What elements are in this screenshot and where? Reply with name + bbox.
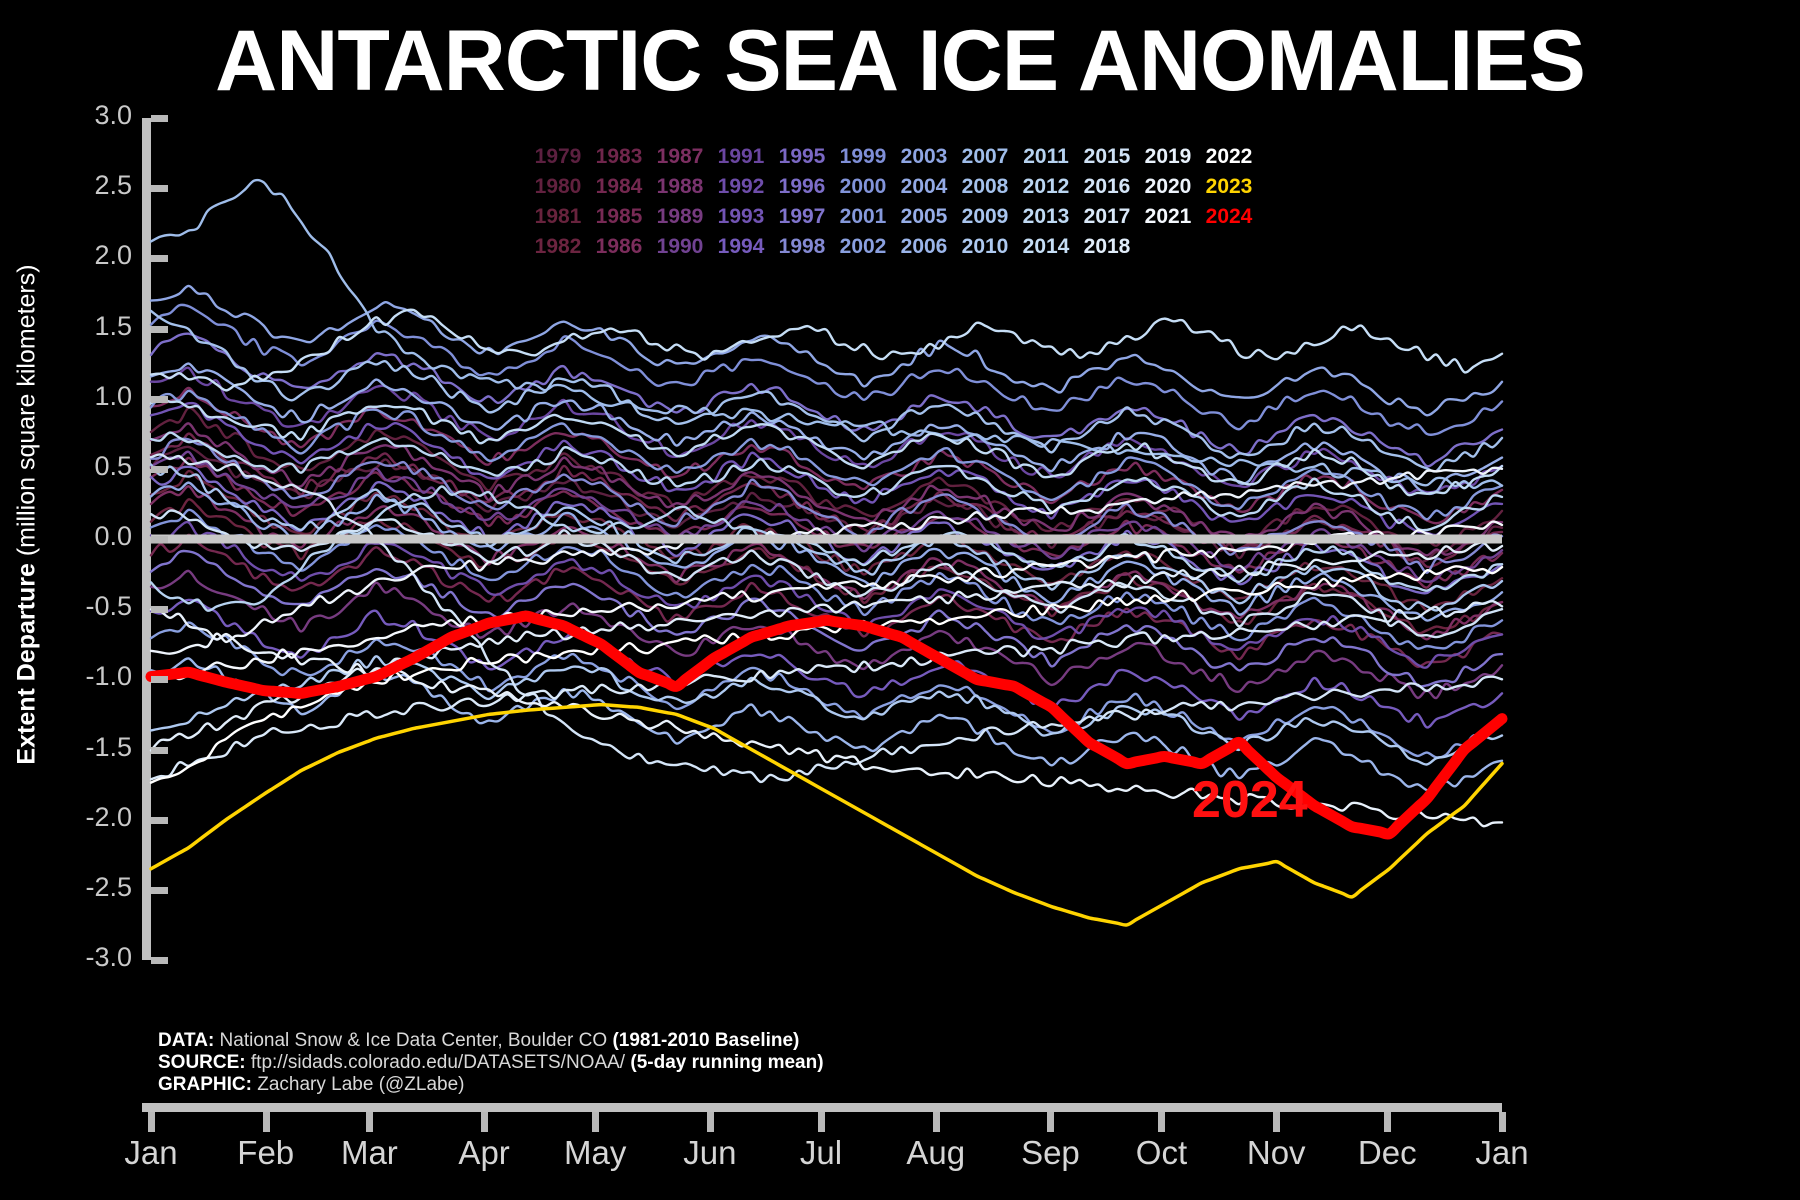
legend-year-1981[interactable]: 1981 xyxy=(530,202,586,232)
x-tick-label: Apr xyxy=(458,1134,509,1172)
credits-data-value: National Snow & Ice Data Center, Boulder… xyxy=(214,1030,612,1051)
y-tick xyxy=(151,115,168,122)
y-tick-label: 0.0 xyxy=(48,521,132,552)
legend-year-1989[interactable]: 1989 xyxy=(652,202,708,232)
credits-source-line: SOURCE: ftp://sidads.colorado.edu/DATASE… xyxy=(158,1052,824,1074)
x-tick xyxy=(1047,1112,1054,1132)
y-axis-title: Extent Departure (million square kilomet… xyxy=(13,165,42,865)
legend-year-2020[interactable]: 2020 xyxy=(1140,172,1196,202)
legend-year-2019[interactable]: 2019 xyxy=(1140,142,1196,172)
series-lines xyxy=(151,180,1502,826)
y-tick xyxy=(151,185,168,192)
credits-graphic-value: Zachary Labe (@ZLabe) xyxy=(252,1074,465,1095)
x-tick-label: Dec xyxy=(1358,1134,1417,1172)
x-tick-label: Mar xyxy=(341,1134,398,1172)
legend-year-2014[interactable]: 2014 xyxy=(1018,232,1074,262)
legend-year-2005[interactable]: 2005 xyxy=(896,202,952,232)
y-tick-label: 2.5 xyxy=(48,170,132,201)
credits-data-label: DATA: xyxy=(158,1030,214,1051)
x-tick-label: Jul xyxy=(800,1134,842,1172)
legend-year-1999[interactable]: 1999 xyxy=(835,142,891,172)
y-tick-label: 1.5 xyxy=(48,311,132,342)
legend-year-2011[interactable]: 2011 xyxy=(1018,142,1074,172)
x-tick-label: Nov xyxy=(1247,1134,1306,1172)
credits-source-value: ftp://sidads.colorado.edu/DATASETS/NOAA/ xyxy=(246,1052,631,1073)
y-tick-label: 1.0 xyxy=(48,381,132,412)
legend-year-1994[interactable]: 1994 xyxy=(713,232,769,262)
legend-year-1988[interactable]: 1988 xyxy=(652,172,708,202)
y-axis-title-units: (million square kilometers) xyxy=(13,264,41,563)
y-tick-label: -2.5 xyxy=(48,872,132,903)
y-tick-label: -2.0 xyxy=(48,802,132,833)
credits-graphic-line: GRAPHIC: Zachary Labe (@ZLabe) xyxy=(158,1074,824,1096)
legend-year-1985[interactable]: 1985 xyxy=(591,202,647,232)
x-tick xyxy=(366,1112,373,1132)
x-tick-label: Jan xyxy=(1475,1134,1528,1172)
legend-year-1997[interactable]: 1997 xyxy=(774,202,830,232)
legend-year-2023[interactable]: 2023 xyxy=(1201,172,1257,202)
legend-year-1993[interactable]: 1993 xyxy=(713,202,769,232)
legend-year-2008[interactable]: 2008 xyxy=(957,172,1013,202)
legend-year-1980[interactable]: 1980 xyxy=(530,172,586,202)
x-tick-label: Oct xyxy=(1136,1134,1187,1172)
legend-year-1986[interactable]: 1986 xyxy=(591,232,647,262)
legend-year-2013[interactable]: 2013 xyxy=(1018,202,1074,232)
credits-block: DATA: National Snow & Ice Data Center, B… xyxy=(158,1030,824,1096)
x-tick-label: Feb xyxy=(237,1134,294,1172)
y-tick xyxy=(151,536,168,543)
y-tick xyxy=(151,326,168,333)
y-tick xyxy=(151,957,168,964)
legend-year-1991[interactable]: 1991 xyxy=(713,142,769,172)
credits-data-line: DATA: National Snow & Ice Data Center, B… xyxy=(158,1030,824,1052)
legend-year-2010[interactable]: 2010 xyxy=(957,232,1013,262)
legend-year-2017[interactable]: 2017 xyxy=(1079,202,1135,232)
legend-year-1982[interactable]: 1982 xyxy=(530,232,586,262)
legend-year-1998[interactable]: 1998 xyxy=(774,232,830,262)
legend-year-2000[interactable]: 2000 xyxy=(835,172,891,202)
legend-year-2009[interactable]: 2009 xyxy=(957,202,1013,232)
legend-year-1992[interactable]: 1992 xyxy=(713,172,769,202)
y-tick-label: -1.5 xyxy=(48,732,132,763)
credits-running-mean: (5-day running mean) xyxy=(630,1052,823,1073)
x-tick-label: Sep xyxy=(1021,1134,1080,1172)
legend-year-2002[interactable]: 2002 xyxy=(835,232,891,262)
y-tick xyxy=(151,606,168,613)
y-tick-label: -3.0 xyxy=(48,942,132,973)
y-tick xyxy=(151,887,168,894)
x-tick-label: Aug xyxy=(906,1134,965,1172)
legend-year-1996[interactable]: 1996 xyxy=(774,172,830,202)
x-tick xyxy=(707,1112,714,1132)
y-tick xyxy=(151,747,168,754)
year-legend: 1979198319871991199519992003200720112015… xyxy=(530,142,1150,262)
legend-row: 1980198419881992199620002004200820122016… xyxy=(530,172,1150,202)
y-tick-label: 0.5 xyxy=(48,451,132,482)
credits-graphic-label: GRAPHIC: xyxy=(158,1074,252,1095)
x-tick xyxy=(1499,1112,1506,1132)
legend-year-2006[interactable]: 2006 xyxy=(896,232,952,262)
legend-year-2021[interactable]: 2021 xyxy=(1140,202,1196,232)
legend-year-1995[interactable]: 1995 xyxy=(774,142,830,172)
legend-year-1983[interactable]: 1983 xyxy=(591,142,647,172)
x-tick xyxy=(1158,1112,1165,1132)
y-tick xyxy=(151,676,168,683)
legend-year-2016[interactable]: 2016 xyxy=(1079,172,1135,202)
x-tick-label: May xyxy=(564,1134,626,1172)
y-tick xyxy=(151,466,168,473)
y-tick-label: -1.0 xyxy=(48,661,132,692)
legend-year-2007[interactable]: 2007 xyxy=(957,142,1013,172)
legend-year-2024[interactable]: 2024 xyxy=(1201,202,1257,232)
x-tick xyxy=(481,1112,488,1132)
legend-year-1987[interactable]: 1987 xyxy=(652,142,708,172)
y-tick xyxy=(151,396,168,403)
y-tick-label: 2.0 xyxy=(48,240,132,271)
legend-year-2012[interactable]: 2012 xyxy=(1018,172,1074,202)
y-tick-label: 3.0 xyxy=(48,100,132,131)
legend-year-2004[interactable]: 2004 xyxy=(896,172,952,202)
x-tick xyxy=(1273,1112,1280,1132)
legend-row: 1981198519891993199720012005200920132017… xyxy=(530,202,1150,232)
legend-year-2001[interactable]: 2001 xyxy=(835,202,891,232)
credits-baseline: (1981-2010 Baseline) xyxy=(612,1030,799,1051)
legend-year-2022[interactable]: 2022 xyxy=(1201,142,1257,172)
y-axis-title-bold: Extent Departure xyxy=(13,563,41,764)
x-tick xyxy=(818,1112,825,1132)
x-tick xyxy=(263,1112,270,1132)
legend-year-1979[interactable]: 1979 xyxy=(530,142,586,172)
x-tick xyxy=(148,1112,155,1132)
legend-row: 1979198319871991199519992003200720112015… xyxy=(530,142,1150,172)
annotation-2024: 2024 xyxy=(1192,770,1308,830)
legend-year-1984[interactable]: 1984 xyxy=(591,172,647,202)
y-tick-label: -0.5 xyxy=(48,591,132,622)
y-tick xyxy=(151,255,168,262)
x-tick xyxy=(592,1112,599,1132)
legend-year-2018[interactable]: 2018 xyxy=(1079,232,1135,262)
y-tick xyxy=(151,817,168,824)
x-tick-label: Jun xyxy=(683,1134,736,1172)
legend-year-1990[interactable]: 1990 xyxy=(652,232,708,262)
x-tick xyxy=(933,1112,940,1132)
legend-year-2015[interactable]: 2015 xyxy=(1079,142,1135,172)
legend-year-2003[interactable]: 2003 xyxy=(896,142,952,172)
x-tick-label: Jan xyxy=(124,1134,177,1172)
x-tick xyxy=(1384,1112,1391,1132)
legend-row: 1982198619901994199820022006201020142018 xyxy=(530,232,1150,262)
credits-source-label: SOURCE: xyxy=(158,1052,246,1073)
